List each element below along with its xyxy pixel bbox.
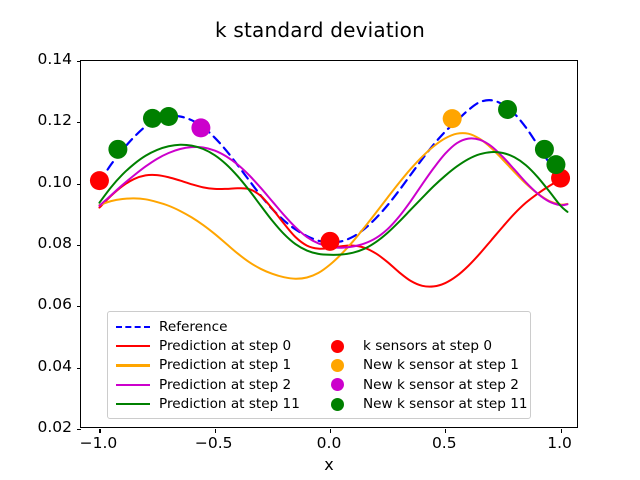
y-tick-label: 0.06 (8, 295, 72, 313)
data-point-marker (90, 171, 109, 190)
legend-marker-swatch-icon (320, 398, 354, 411)
legend-item[interactable]: New k sensor at step 1 (320, 356, 528, 375)
data-point-marker (546, 155, 565, 174)
x-axis-label: x (80, 455, 578, 474)
x-tick-label: −1.0 (63, 434, 133, 452)
data-point-marker (535, 140, 554, 159)
y-tick-mark (77, 306, 81, 307)
legend-marker-swatch-icon (320, 359, 354, 372)
legend-item[interactable]: Reference (116, 317, 300, 336)
legend-marker-swatch-icon (320, 378, 354, 391)
legend-line-swatch-icon (116, 397, 150, 411)
legend-item[interactable]: k sensors at step 0 (320, 336, 528, 355)
legend-line-swatch-icon (116, 339, 150, 353)
data-point-marker (321, 232, 340, 251)
y-tick-label: 0.12 (8, 111, 72, 129)
legend-column-lines: ReferencePrediction at step 0Prediction … (116, 317, 300, 414)
x-tick-label: 1.0 (525, 434, 595, 452)
legend-item-label: New k sensor at step 11 (363, 396, 528, 412)
legend-item-label: k sensors at step 0 (363, 338, 492, 354)
legend-item[interactable]: Prediction at step 11 (116, 395, 300, 414)
matplotlib-figure: k standard deviation 0.020.040.060.080.1… (0, 0, 640, 480)
x-tick-label: 0.0 (294, 434, 364, 452)
legend-item[interactable]: Prediction at step 1 (116, 356, 300, 375)
legend-item[interactable]: Prediction at step 2 (116, 375, 300, 394)
chart-title: k standard deviation (0, 18, 640, 42)
chart-legend: ReferencePrediction at step 0Prediction … (107, 311, 531, 419)
y-tick-mark (77, 122, 81, 123)
legend-item-label: Prediction at step 11 (159, 396, 300, 412)
legend-item[interactable]: Prediction at step 0 (116, 336, 300, 355)
data-point-marker (108, 140, 127, 159)
legend-spacer (320, 317, 528, 336)
y-tick-label: 0.08 (8, 234, 72, 252)
data-point-marker (498, 100, 517, 119)
series-line (99, 133, 567, 279)
legend-line-swatch-icon (116, 358, 150, 372)
y-tick-label: 0.14 (8, 50, 72, 68)
legend-column-markers: k sensors at step 0New k sensor at step … (320, 317, 528, 414)
legend-item-label: New k sensor at step 2 (363, 377, 519, 393)
x-tick-mark (561, 429, 562, 433)
data-point-marker (143, 109, 162, 128)
legend-item[interactable]: New k sensor at step 11 (320, 395, 528, 414)
legend-item[interactable]: New k sensor at step 2 (320, 375, 528, 394)
y-tick-label: 0.02 (8, 418, 72, 436)
legend-marker-swatch-icon (320, 340, 354, 353)
data-point-marker (443, 109, 462, 128)
y-tick-mark (77, 184, 81, 185)
y-tick-mark (77, 429, 81, 430)
y-tick-mark (77, 245, 81, 246)
x-tick-label: −0.5 (179, 434, 249, 452)
legend-item-label: Prediction at step 0 (159, 338, 291, 354)
legend-line-swatch-icon (116, 320, 150, 334)
data-point-marker (191, 118, 210, 137)
legend-item-label: New k sensor at step 1 (363, 357, 519, 373)
y-tick-mark (77, 368, 81, 369)
y-tick-label: 0.10 (8, 173, 72, 191)
y-tick-label: 0.04 (8, 357, 72, 375)
x-tick-label: 0.5 (409, 434, 479, 452)
data-point-marker (159, 107, 178, 126)
series-line (99, 175, 567, 287)
x-tick-mark (445, 429, 446, 433)
x-tick-mark (215, 429, 216, 433)
x-tick-mark (99, 429, 100, 433)
legend-line-swatch-icon (116, 378, 150, 392)
legend-item-label: Prediction at step 2 (159, 377, 291, 393)
x-tick-mark (330, 429, 331, 433)
legend-item-label: Reference (159, 319, 227, 335)
y-tick-mark (77, 61, 81, 62)
legend-item-label: Prediction at step 1 (159, 357, 291, 373)
